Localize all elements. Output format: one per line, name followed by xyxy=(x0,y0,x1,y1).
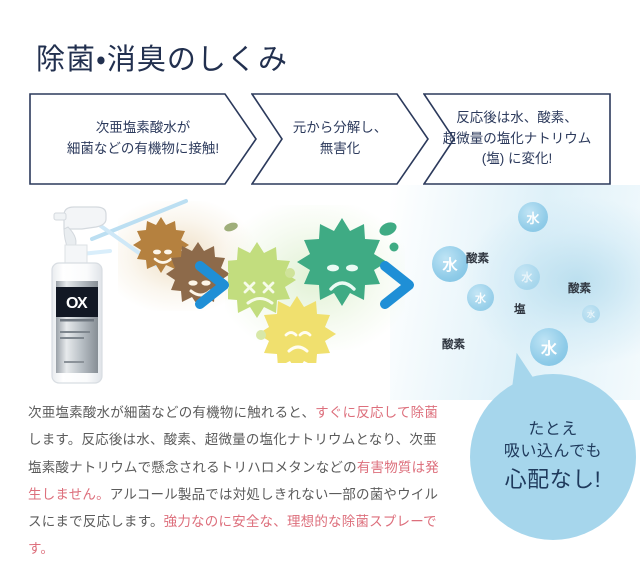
speech-bubble-line3: 心配なし! xyxy=(504,464,602,495)
speech-bubble: たとえ 吸い込んでも 心配なし! xyxy=(470,374,636,540)
molecule-label-dark-9: 塩 xyxy=(514,301,526,317)
body-segment-0: 次亜塩素酸水が細菌などの有機物に触れると、 xyxy=(28,405,315,420)
process-step-2: 元から分解し、 無害化 xyxy=(251,93,429,185)
spray-bottle-icon: O X xyxy=(34,199,126,389)
molecule-label-water-1: 水 xyxy=(518,202,548,232)
process-step-flow: 次亜塩素酸水が 細菌などの有機物に接触! 元から分解し、 無害化 反応後は水、酸… xyxy=(29,93,611,185)
chevron-right-icon-1 xyxy=(190,261,234,309)
illustration-band: O X xyxy=(0,193,640,393)
process-step-3-line3: (塩) に変化! xyxy=(443,149,592,170)
svg-text:X: X xyxy=(77,295,88,312)
molecule-label-water-2: 水 xyxy=(514,264,540,290)
molecule-label-dark-8: 酸素 xyxy=(442,336,465,352)
process-step-1-line1: 次亜塩素酸水が xyxy=(67,118,219,139)
molecule-label-water-5: 水 xyxy=(582,305,600,323)
speech-bubble-line1: たとえ xyxy=(504,419,602,442)
process-step-2-line2: 無害化 xyxy=(293,139,388,160)
molecule-label-water-0: 水 xyxy=(432,246,468,282)
process-step-2-line1: 元から分解し、 xyxy=(293,118,388,139)
page-title: 除菌・消臭のしくみ xyxy=(36,36,288,78)
process-step-3: 反応後は水、酸素、 超微量の塩化ナトリウム (塩) に変化! xyxy=(423,93,611,185)
molecule-label-dark-7: 酸素 xyxy=(568,280,591,296)
process-step-1-line2: 細菌などの有機物に接触! xyxy=(67,139,219,160)
molecule-label-dark-6: 酸素 xyxy=(466,250,489,266)
process-step-1: 次亜塩素酸水が 細菌などの有機物に接触! xyxy=(29,93,257,185)
process-step-3-line2: 超微量の塩化ナトリウム xyxy=(443,129,592,150)
body-paragraph: 次亜塩素酸水が細菌などの有機物に触れると、すぐに反応して除菌します。反応後は水、… xyxy=(28,399,448,563)
speech-bubble-line2: 吸い込んでも xyxy=(504,441,602,464)
body-segment-1: すぐに反応して除菌 xyxy=(315,405,438,420)
speech-bubble-text: たとえ 吸い込んでも 心配なし! xyxy=(504,419,602,496)
process-step-3-line1: 反応後は水、酸素、 xyxy=(443,108,592,129)
molecule-label-water-3: 水 xyxy=(467,284,494,311)
infographic-page: 除菌・消臭のしくみ 次亜塩素酸水が 細菌などの有機物に接触! 元から分解し、 無… xyxy=(0,0,640,563)
